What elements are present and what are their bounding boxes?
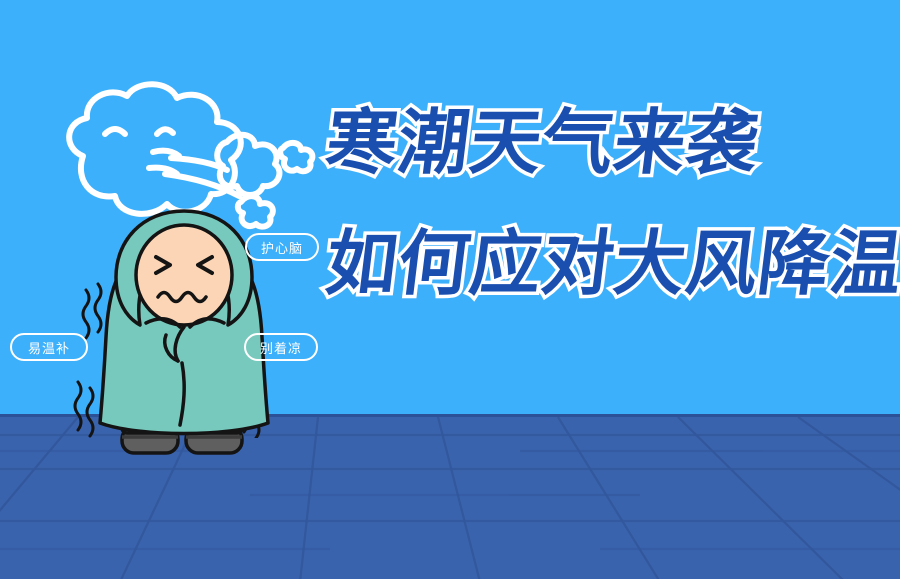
badge-huxinnao[interactable]: 护心脑: [245, 233, 319, 261]
badge-yiwenbu-label: 易温补: [28, 338, 70, 357]
poster-canvas: 寒潮天气来袭 如何应对大风降温 护心脑 易温补 别着凉: [0, 0, 900, 579]
headline-line-2: 如何应对大风降温: [322, 229, 876, 300]
badge-biezhaoliang-label: 别着凉: [260, 338, 302, 357]
badge-yiwenbu[interactable]: 易温补: [10, 333, 88, 361]
headline-block: 寒潮天气来袭 如何应对大风降温: [322, 108, 867, 300]
badge-biezhaoliang[interactable]: 别着凉: [244, 333, 318, 361]
headline-line-1: 寒潮天气来袭: [322, 108, 876, 179]
badge-huxinnao-label: 护心脑: [261, 238, 303, 257]
